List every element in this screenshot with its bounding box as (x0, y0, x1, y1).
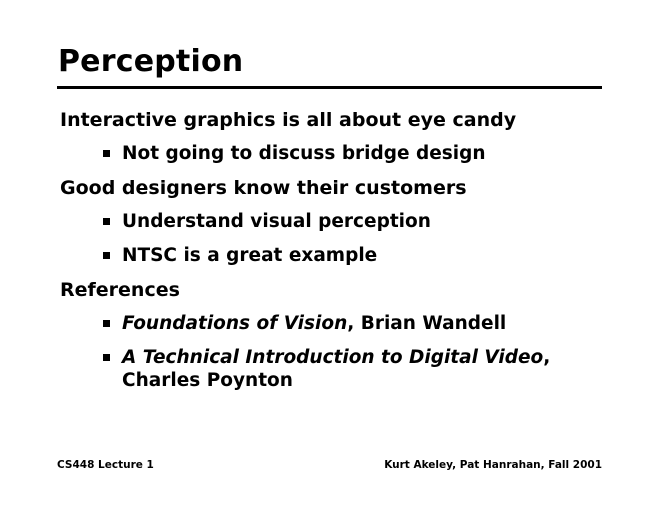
bullet-level2-line: Understand visual perception (103, 210, 660, 244)
bullet-level2-line: NTSC is a great example (103, 244, 660, 278)
bullet-level1-line: Good designers know their customers (60, 176, 660, 210)
square-bullet-icon (103, 320, 110, 327)
reference-title: Foundations of Vision (122, 313, 347, 334)
footer-course-label: CS448 Lecture 1 (57, 458, 154, 472)
bullet-level1-line: References (60, 278, 660, 312)
reference-author: Charles Poynton (122, 369, 660, 392)
bullet-level2-line: Not going to discuss bridge design (103, 142, 660, 176)
square-bullet-icon (103, 150, 110, 157)
bullet-level1-line: Interactive graphics is all about eye ca… (60, 108, 660, 142)
slide-body: Interactive graphics is all about eye ca… (0, 108, 660, 402)
footer-authors-label: Kurt Akeley, Pat Hanrahan, Fall 2001 (384, 458, 602, 472)
reference-author: , Brian Wandell (347, 313, 506, 334)
bullet-level2-label: Understand visual perception (122, 210, 660, 233)
slide-canvas: Perception Interactive graphics is all a… (0, 0, 660, 510)
square-bullet-icon (103, 252, 110, 259)
reference-item: Foundations of Vision, Brian Wandell (103, 312, 660, 346)
bullet-level2-label: Not going to discuss bridge design (122, 142, 660, 165)
square-bullet-icon (103, 354, 110, 361)
title-divider-rule (57, 86, 602, 89)
reference-item: A Technical Introduction to Digital Vide… (103, 346, 660, 402)
square-bullet-icon (103, 218, 110, 225)
page-title: Perception (58, 44, 243, 80)
reference-line: A Technical Introduction to Digital Vide… (122, 346, 660, 369)
bullet-level2-label: NTSC is a great example (122, 244, 660, 267)
reference-line: Foundations of Vision, Brian Wandell (122, 312, 660, 335)
reference-title: A Technical Introduction to Digital Vide… (122, 347, 543, 368)
reference-title-comma: , (543, 347, 550, 368)
